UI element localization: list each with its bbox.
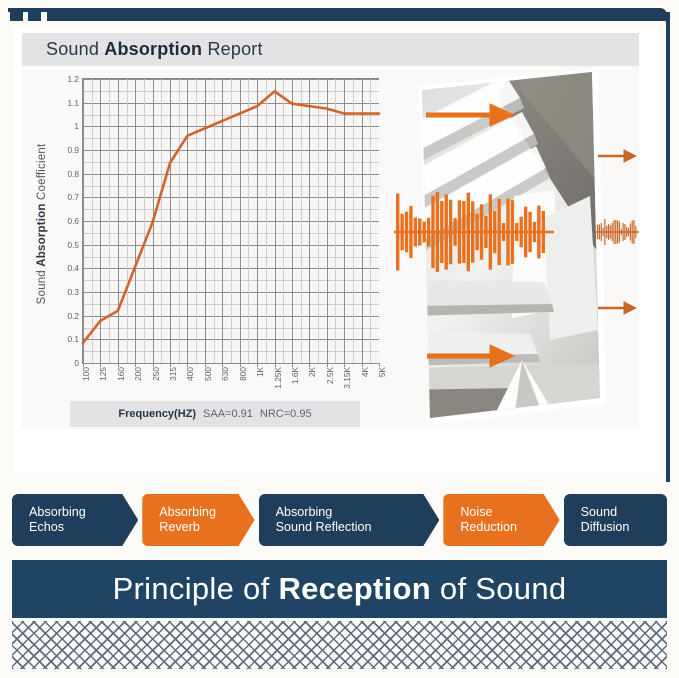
waveform-bar bbox=[453, 218, 456, 246]
benefit-tag-4[interactable]: NoiseReduction bbox=[443, 494, 559, 546]
waveform-bar bbox=[480, 204, 483, 259]
waveform-bar bbox=[626, 227, 627, 237]
waveform-bar bbox=[597, 225, 598, 240]
y-tick-label: 1.2 bbox=[67, 74, 79, 84]
waveform-bar bbox=[622, 223, 623, 241]
plot-grid: 1.21.110.90.80.70.60.50.40.30.20.10 1001… bbox=[82, 78, 379, 364]
waveform-bar bbox=[418, 218, 421, 245]
waveform-bar bbox=[520, 217, 523, 248]
banner-suffix: of Sound bbox=[431, 571, 566, 606]
waveform-bar bbox=[628, 228, 629, 236]
transmitted-waveform bbox=[596, 219, 639, 245]
bottom-banner: Principle of Reception of Sound bbox=[12, 560, 667, 618]
benefit-tag-row: AbsorbingEchosAbsorbingReverbAbsorbingSo… bbox=[12, 494, 667, 546]
waveform-bar bbox=[431, 196, 434, 268]
y-tick-label: 0.3 bbox=[67, 287, 79, 297]
benefit-tag-line2: Sound Reflection bbox=[276, 520, 416, 535]
waveform-bar bbox=[515, 223, 518, 241]
benefit-tag-line1: Absorbing bbox=[276, 505, 416, 520]
benefit-tag-2[interactable]: AbsorbingReverb bbox=[142, 494, 254, 546]
benefit-tag-line2: Reduction bbox=[460, 520, 535, 535]
waveform-bar bbox=[604, 219, 605, 245]
y-tick-label: 0.4 bbox=[67, 263, 79, 273]
waveform-bar bbox=[489, 194, 492, 269]
absorption-chart: Sound Absorption Coefficient 1.21.110.90… bbox=[22, 68, 394, 429]
waveform-bar bbox=[606, 226, 607, 238]
benefit-tag-1[interactable]: AbsorbingEchos bbox=[12, 494, 138, 546]
waveform-bar bbox=[635, 226, 636, 238]
waveform-bar bbox=[601, 223, 602, 241]
benefit-tag-5[interactable]: SoundDiffusion bbox=[564, 494, 667, 546]
y-tick-label: 0.7 bbox=[67, 192, 79, 202]
saa-value: SAA=0.91 bbox=[203, 408, 253, 420]
y-tick-label: 1 bbox=[74, 121, 79, 131]
benefit-tag-line2: Reverb bbox=[159, 520, 230, 535]
bottom-texture-strip bbox=[12, 621, 667, 669]
curve-path bbox=[83, 91, 379, 343]
waveform-bar bbox=[396, 194, 399, 271]
absorption-curve bbox=[83, 79, 379, 375]
waveform-bar bbox=[613, 220, 614, 243]
report-body: Sound Absorption Coefficient 1.21.110.90… bbox=[22, 66, 639, 429]
waveform-bar bbox=[610, 225, 611, 238]
waveform-bar bbox=[506, 199, 509, 266]
waveform-bar bbox=[612, 223, 613, 241]
y-tick-label: 0 bbox=[74, 358, 79, 368]
waveform-bar bbox=[436, 192, 439, 272]
y-tick-label: 0.1 bbox=[67, 334, 79, 344]
banner-bold: Reception bbox=[278, 571, 431, 606]
waveform-bar bbox=[602, 228, 603, 236]
waveform-bar bbox=[633, 220, 634, 244]
waveform-bar bbox=[422, 222, 425, 243]
benefit-tag-3[interactable]: AbsorbingSound Reflection bbox=[259, 494, 440, 546]
waveform-bar bbox=[619, 222, 620, 243]
y-tick-label: 1.1 bbox=[67, 98, 79, 108]
banner-title: Principle of Reception of Sound bbox=[113, 571, 567, 607]
panel-scene-svg bbox=[394, 68, 639, 429]
waveform-bar bbox=[502, 223, 505, 241]
page-title-bold: Absorption bbox=[104, 39, 202, 59]
acoustic-panel-illustration bbox=[394, 68, 639, 429]
waveform-bar bbox=[440, 201, 443, 263]
corner-square-2 bbox=[28, 8, 41, 21]
waveform-bar bbox=[624, 224, 625, 240]
y-axis-title-prefix: Sound bbox=[36, 267, 48, 305]
waveform-bar bbox=[458, 200, 461, 264]
frequency-label: Frequency(HZ) bbox=[118, 408, 196, 420]
waveform-bar bbox=[409, 206, 412, 258]
waveform-bar bbox=[445, 194, 448, 269]
nrc-value: NRC=0.95 bbox=[260, 408, 312, 420]
waveform-bar bbox=[524, 207, 527, 258]
waveform-bar bbox=[414, 218, 417, 247]
y-axis-title: Sound Absorption Coefficient bbox=[36, 119, 48, 329]
y-tick-label: 0.9 bbox=[67, 145, 79, 155]
y-axis-title-suffix: Coefficient bbox=[36, 144, 48, 204]
waveform-bar bbox=[400, 214, 403, 250]
report-header: Sound Absorption Report bbox=[22, 33, 639, 66]
benefit-tag-line1: Noise bbox=[460, 505, 535, 520]
waveform-bar bbox=[475, 214, 478, 250]
benefit-tag-line1: Absorbing bbox=[159, 505, 230, 520]
waveform-bar bbox=[462, 201, 465, 263]
y-axis-title-bold: Absorption bbox=[36, 203, 48, 266]
waveform-bar bbox=[484, 216, 487, 248]
waveform-bar bbox=[405, 212, 408, 253]
y-tick-label: 0.6 bbox=[67, 216, 79, 226]
waveform-bar bbox=[493, 211, 496, 253]
waveform-bar bbox=[511, 200, 514, 264]
waveform-bar bbox=[632, 221, 633, 244]
waveform-bar bbox=[497, 199, 500, 265]
poster-root: Sound Absorption Report Sound Absorption… bbox=[0, 0, 679, 678]
top-bar-decoration bbox=[47, 8, 667, 21]
waveform-bar bbox=[467, 193, 470, 272]
waveform-bar bbox=[630, 223, 631, 240]
waveform-bar bbox=[427, 218, 430, 247]
page-title-prefix: Sound bbox=[46, 39, 104, 59]
page-title-suffix: Report bbox=[202, 39, 262, 59]
benefit-tag-line2: Echos bbox=[29, 520, 114, 535]
benefit-tag-line1: Absorbing bbox=[29, 505, 114, 520]
x-tick-mark bbox=[379, 363, 380, 367]
waveform-bar bbox=[533, 222, 536, 242]
waveform-bar bbox=[599, 225, 600, 240]
page-title: Sound Absorption Report bbox=[46, 39, 263, 60]
y-tick-label: 0.2 bbox=[67, 311, 79, 321]
benefit-tag-line2: Diffusion bbox=[581, 520, 653, 535]
waveform-bar bbox=[537, 206, 540, 259]
waveform-bar bbox=[617, 220, 618, 244]
waveform-bar bbox=[471, 201, 474, 262]
waveform-bar bbox=[621, 229, 622, 235]
waveform-bar bbox=[615, 220, 616, 244]
plot-area: 1.21.110.90.80.70.60.50.40.30.20.10 1001… bbox=[64, 78, 379, 388]
y-tick-label: 0.5 bbox=[67, 240, 79, 250]
chart-footer: Frequency(HZ) SAA=0.91 NRC=0.95 bbox=[70, 401, 360, 427]
waveform-bar bbox=[608, 224, 609, 240]
waveform-bar bbox=[542, 211, 545, 253]
y-tick-label: 0.8 bbox=[67, 169, 79, 179]
waveform-bar bbox=[449, 200, 452, 265]
banner-prefix: Principle of bbox=[113, 571, 279, 606]
corner-square-1 bbox=[10, 8, 23, 21]
waveform-bar bbox=[528, 212, 531, 252]
benefit-tag-line1: Sound bbox=[581, 505, 653, 520]
